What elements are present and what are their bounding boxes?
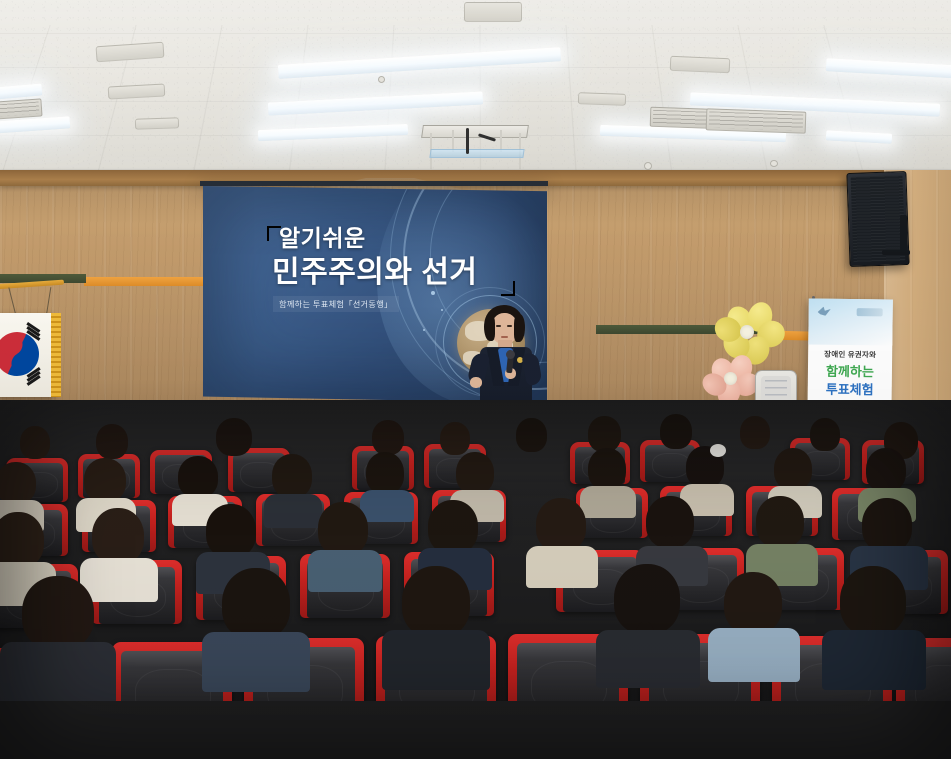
balloon-flower-center [740,325,754,339]
person-head [724,572,782,634]
projector-cable [466,128,469,154]
banner-line3: 투표체험 [808,378,892,398]
person-head [660,414,692,449]
person-head [366,452,404,494]
slide-accent-dot [431,291,435,295]
person-torso [708,628,800,682]
presenter-eye [496,325,501,327]
slide-accent-dot [441,309,444,312]
person-head [92,508,144,564]
ceiling [0,0,951,178]
slide-bracket-close-icon [501,281,515,296]
person-torso [202,632,310,692]
kiosk-screen-lines [765,380,787,398]
person-torso [382,630,490,690]
speaker-mount-bracket [900,215,907,253]
person-torso [526,546,598,588]
person-head [774,448,812,490]
person-head [810,418,840,451]
presenter-hair-side [514,314,525,342]
person-torso [580,486,636,518]
presenter-hair-side [484,314,495,341]
person-torso [596,630,700,688]
flag-fringe [51,313,61,397]
presenter-eye [507,325,512,327]
person-torso [360,490,414,522]
banner-sky-gradient [808,298,893,345]
balloon-flower-center [724,372,737,385]
projector-lift-shelf [429,149,524,158]
lecture-hall-photo: 알기쉬운 민주주의와 선거 함께하는 투표체험「선거동행」 투표함 [0,0,951,759]
banner-line2: 함께하는 [808,360,892,380]
person-head [372,420,404,455]
person-head [178,456,218,498]
speaker-mount-bracket [882,250,910,255]
banner-logo-icon [857,308,883,316]
slide-subtitle: 함께하는 투표체험「선거동행」 [273,296,399,312]
hair-scrunchie [710,444,726,457]
person-head [84,458,126,502]
presenter-mouth [501,336,508,338]
person-head [318,502,368,556]
person-head [456,452,494,494]
banner-line1: 장애인 유권자와 [808,348,892,360]
person-head [22,576,94,650]
person-head [756,496,804,548]
person-torso [0,642,116,704]
person-head [588,416,621,452]
ceiling-vent [0,98,43,119]
floor-shadow [0,701,951,759]
person-head [206,504,256,558]
ceiling-recessed-fixture [578,92,626,106]
person-torso [264,494,322,528]
ceiling-vent [706,108,807,133]
person-torso [308,550,382,592]
person-head [20,426,50,459]
slide-title-line1: 알기쉬운 [279,226,366,252]
smoke-detector-icon [378,76,385,83]
microphone-head [506,350,515,359]
kiosk-screen[interactable] [761,376,791,402]
person-head [840,566,906,636]
person-head [740,416,770,449]
person-torso [80,558,158,602]
person-head [440,422,470,455]
person-head [222,568,290,640]
person-head [272,454,312,498]
audience-seating-area [0,400,951,759]
projector-lift-plate [421,125,529,138]
person-head [0,512,44,568]
presenter-hand-left [470,377,482,388]
slide-accent-dot [423,329,425,331]
person-head [866,448,906,492]
person-head [516,418,547,452]
taeguk-symbol [0,324,47,384]
ceiling-recessed-fixture [135,117,179,130]
korean-flag [0,313,52,397]
person-head [96,424,128,459]
person-head [428,500,478,554]
person-head [588,448,626,490]
projection-screen-frame [200,181,548,186]
smoke-detector-icon [770,160,778,167]
slide-title-line2: 민주주의와 선거 [272,256,478,290]
person-head [402,566,470,638]
person-head [216,418,252,456]
ceiling-recessed-fixture [670,56,731,74]
smoke-detector-icon [644,162,652,170]
person-head [536,498,586,552]
ceiling-projector-mount-plate [464,2,522,22]
person-torso [822,630,926,690]
person-head [862,498,912,552]
person-head [0,462,36,504]
